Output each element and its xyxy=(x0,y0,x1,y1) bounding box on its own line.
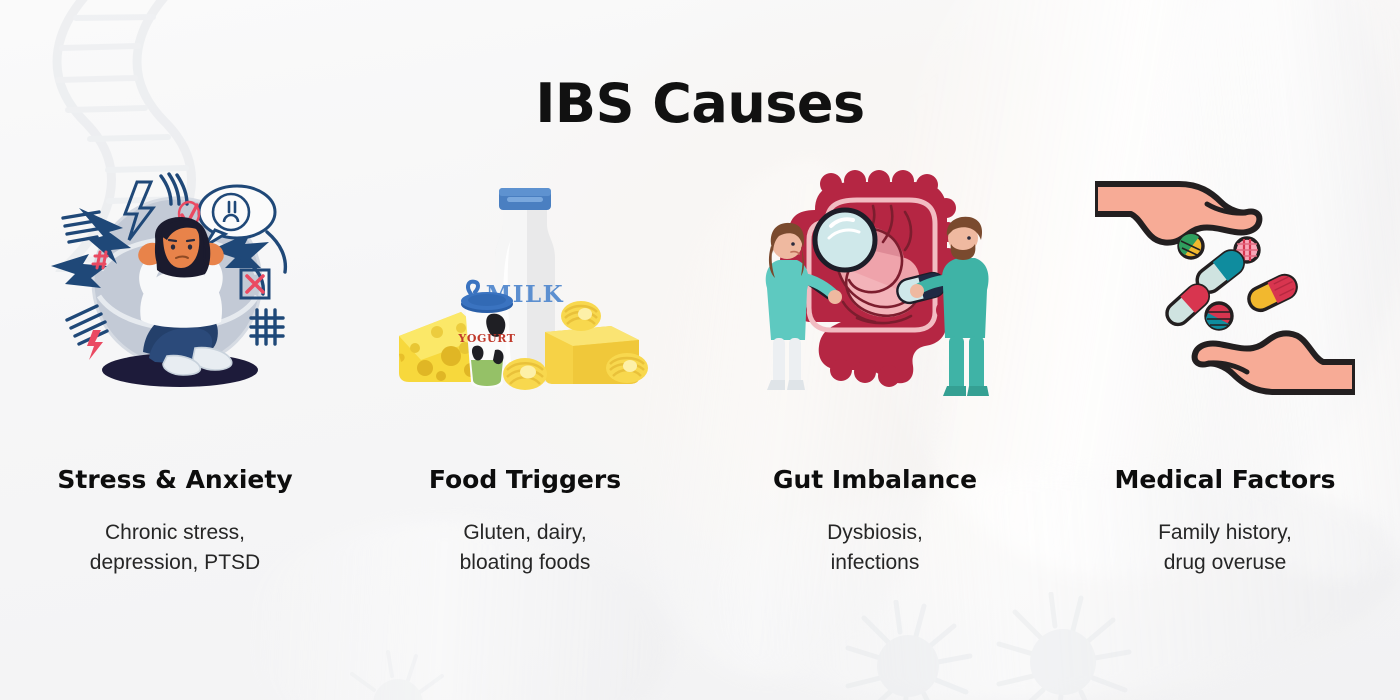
page-title: IBS Causes xyxy=(0,72,1400,135)
card-title: Food Triggers xyxy=(429,467,621,492)
pill-group xyxy=(1162,234,1300,329)
card-stress[interactable]: Stress & Anxiety Chronic stress, depress… xyxy=(0,170,350,579)
card-medical[interactable]: Medical Factors Family history, drug ove… xyxy=(1050,170,1400,579)
card-description: Gluten, dairy, bloating foods xyxy=(460,518,591,579)
stressed-woman-illustration xyxy=(45,170,305,405)
desc-line-2: depression, PTSD xyxy=(90,548,260,578)
desc-line-2: drug overuse xyxy=(1158,548,1292,578)
lower-hand xyxy=(1195,333,1355,392)
hands-passing-pills-illustration xyxy=(1095,170,1355,405)
card-food[interactable]: MILK xyxy=(350,170,700,579)
upper-hand xyxy=(1095,184,1259,243)
card-gut[interactable]: Gut Imbalance Dysbiosis, infections xyxy=(700,170,1050,579)
desc-line-2: bloating foods xyxy=(460,548,591,578)
desc-line-1: Family history, xyxy=(1158,518,1292,548)
card-description: Dysbiosis, infections xyxy=(827,518,923,579)
dairy-products-illustration: MILK xyxy=(395,170,655,405)
desc-line-1: Chronic stress, xyxy=(90,518,260,548)
desc-line-1: Dysbiosis, xyxy=(827,518,923,548)
desc-line-1: Gluten, dairy, xyxy=(460,518,591,548)
card-description: Family history, drug overuse xyxy=(1158,518,1292,579)
card-title: Gut Imbalance xyxy=(773,467,977,492)
intestine-with-doctors-illustration xyxy=(745,170,1005,405)
card-title: Stress & Anxiety xyxy=(57,467,292,492)
card-description: Chronic stress, depression, PTSD xyxy=(90,518,260,579)
card-title: Medical Factors xyxy=(1115,467,1336,492)
cards-row: Stress & Anxiety Chronic stress, depress… xyxy=(0,170,1400,579)
yogurt-cup-label: YOGURT xyxy=(457,332,515,345)
desc-line-2: infections xyxy=(827,548,923,578)
